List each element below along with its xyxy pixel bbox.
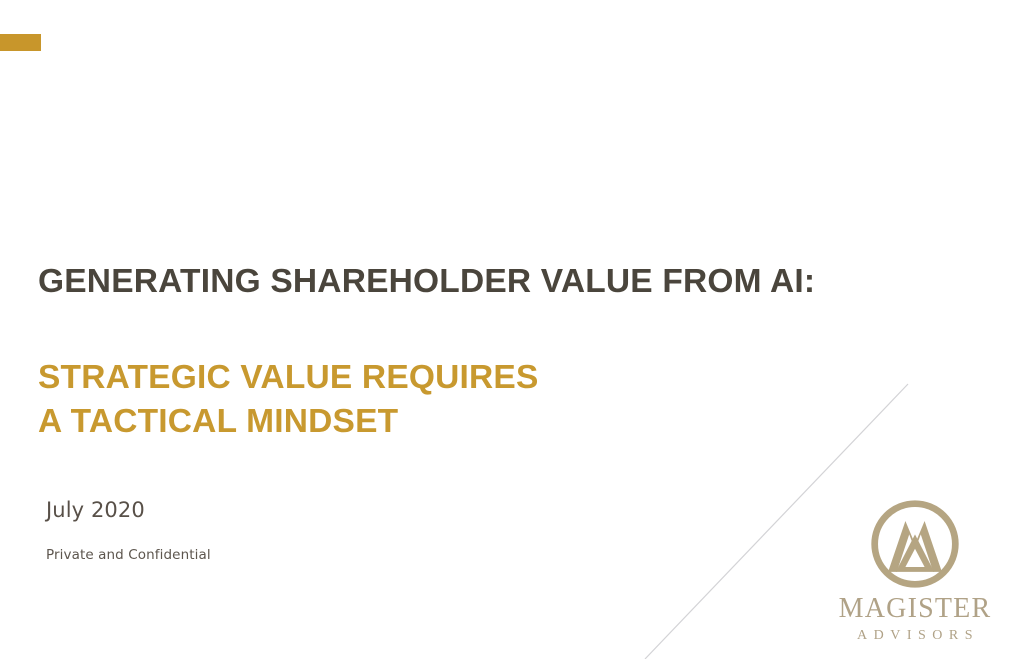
title-slide: GENERATING SHAREHOLDER VALUE FROM AI: ST… xyxy=(0,0,1024,659)
page-title: GENERATING SHAREHOLDER VALUE FROM AI: xyxy=(38,262,938,302)
page-subtitle: STRATEGIC VALUE REQUIRES A TACTICAL MIND… xyxy=(38,356,938,443)
logo-wordmark-advisors: ADVISORS xyxy=(820,629,1010,643)
subhead-line-2: A TACTICAL MINDSET xyxy=(38,400,938,444)
subhead-line-1: STRATEGIC VALUE REQUIRES xyxy=(38,356,938,400)
confidentiality-notice: Private and Confidential xyxy=(46,549,211,563)
magister-monogram-icon xyxy=(867,496,963,592)
headline-text: GENERATING SHAREHOLDER VALUE FROM AI: xyxy=(38,262,938,302)
logo-wordmark-magister: MAGISTER xyxy=(820,595,1010,623)
presentation-date: July 2020 xyxy=(46,500,211,521)
slide-meta: July 2020 Private and Confidential xyxy=(46,500,211,563)
gold-accent-bar xyxy=(0,34,41,51)
magister-advisors-logo: MAGISTER ADVISORS xyxy=(820,496,1010,646)
